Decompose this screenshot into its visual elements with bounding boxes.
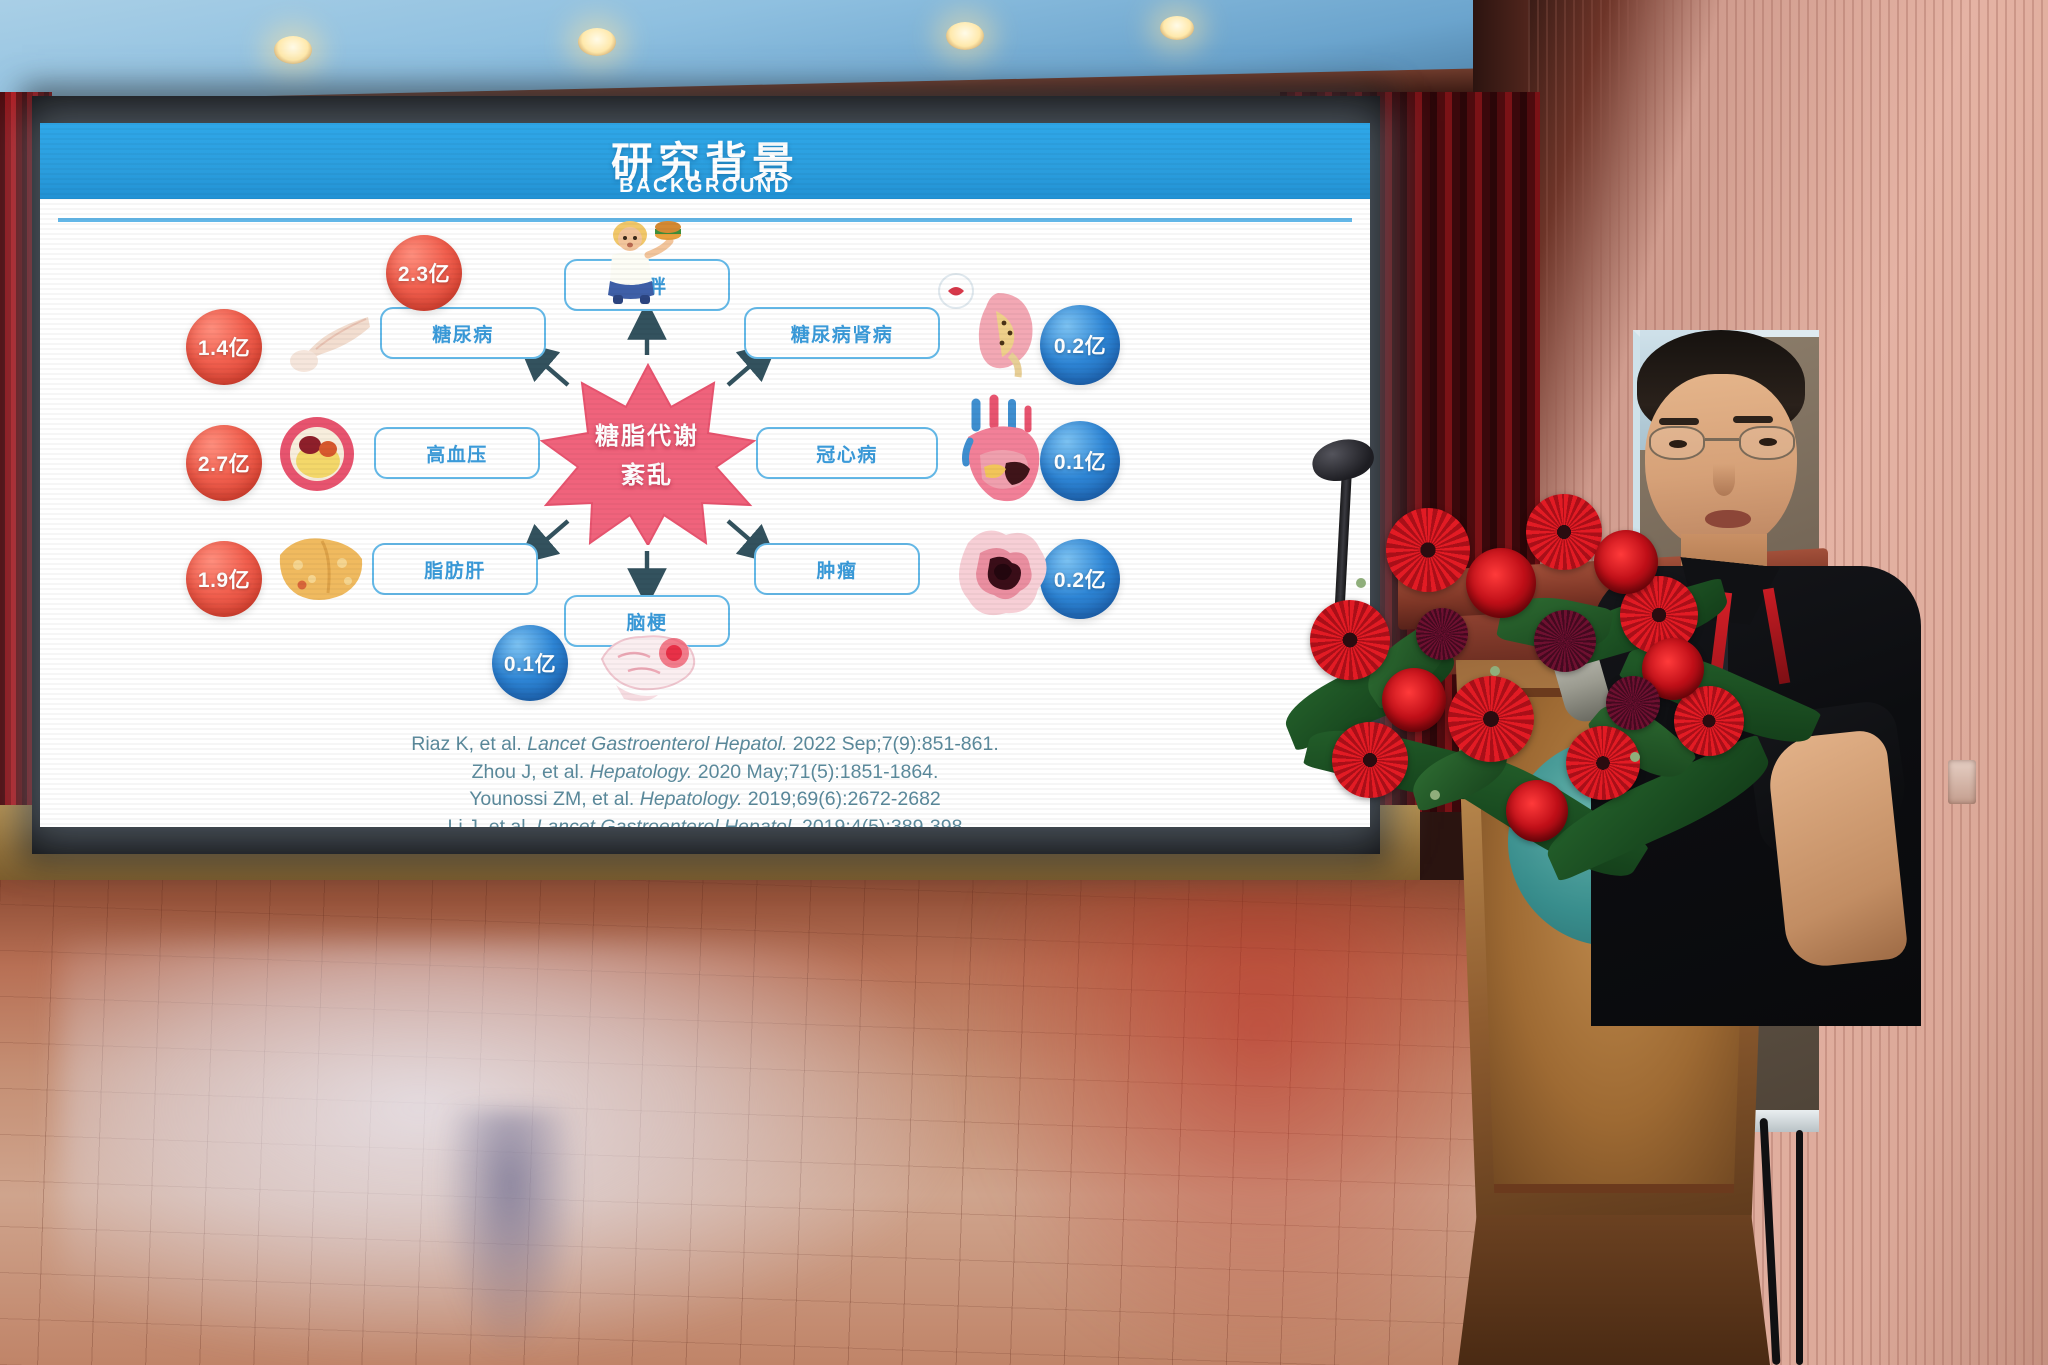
dark-chrysanthemum	[1534, 610, 1596, 672]
gerbera-flower	[1566, 726, 1640, 800]
reference-citation: 2020 May;71(5):1851-1864.	[692, 761, 938, 783]
dark-chrysanthemum	[1416, 608, 1468, 660]
bubble-diabetes-count: 1.4亿	[186, 309, 262, 385]
speaker-eye	[1669, 440, 1687, 448]
eucalyptus-sprig	[1356, 578, 1366, 588]
downlight-icon	[274, 36, 312, 64]
podium-base	[1458, 1215, 1770, 1365]
rose-flower	[1594, 530, 1658, 594]
star-line-1: 糖脂代谢	[595, 416, 699, 451]
speaker-eye	[1759, 438, 1777, 446]
reference-citation: 2019;4(5):389-398	[797, 816, 963, 827]
reference-item: Younossi ZM, et al. Hepatology. 2019;69(…	[40, 786, 1370, 814]
pancreas-icon	[282, 309, 376, 380]
brain-icon	[588, 619, 708, 716]
slide-title-english: BACKGROUND	[40, 175, 1370, 198]
fatty-liver-icon	[272, 529, 368, 612]
bubble-stroke-count: 0.1亿	[492, 625, 568, 701]
downlight-icon	[578, 28, 616, 56]
reference-citation: 2022 Sep;7(9):851-861.	[787, 733, 998, 755]
wall-outlet-icon	[1948, 760, 1976, 804]
reference-journal: Lancet Gastroenterol Hepatol.	[527, 733, 787, 755]
node-hypertension[interactable]: 高血压	[374, 427, 540, 479]
artery-plaque-icon	[278, 415, 356, 498]
node-diabetic-kidney-disease[interactable]: 糖尿病肾病	[744, 307, 940, 359]
bubble-dkd-count: 0.2亿	[1040, 305, 1120, 385]
reference-journal: Hepatology.	[640, 788, 743, 810]
tumor-tissue-icon	[946, 519, 1058, 632]
bubble-fatty-liver-count: 1.9亿	[186, 541, 262, 617]
speaker-eyebrow	[1659, 418, 1699, 425]
downlight-icon	[946, 22, 984, 50]
reference-authors: Li J, et al.	[448, 816, 537, 827]
projection-screen: 研究背景 BACKGROUND	[40, 123, 1370, 827]
reference-journal: Lancet Gastroenterol Hepatol.	[536, 816, 796, 827]
dark-chrysanthemum	[1606, 676, 1660, 730]
central-star-label: 糖脂代谢 紊乱	[538, 363, 756, 543]
eucalyptus-sprig	[1490, 666, 1500, 676]
reference-citation: 2019;69(6):2672-2682	[742, 788, 940, 810]
rose-flower	[1466, 548, 1536, 618]
node-diabetes[interactable]: 糖尿病	[380, 307, 546, 359]
downlight-icon	[1160, 16, 1194, 40]
heart-icon	[950, 393, 1054, 518]
speaker-eyebrow	[1733, 416, 1773, 423]
reference-authors: Younossi ZM, et al.	[469, 788, 640, 810]
central-star-shape: 糖脂代谢 紊乱	[538, 363, 756, 543]
node-tumor[interactable]: 肿瘤	[754, 543, 920, 595]
gerbera-flower	[1526, 494, 1602, 570]
flower-bouquet	[1290, 490, 1810, 920]
glasses-bridge	[1705, 438, 1739, 441]
reference-item: Zhou J, et al. Hepatology. 2020 May;71(5…	[40, 759, 1370, 787]
bubble-hypertension-count: 2.7亿	[186, 425, 262, 501]
rose-flower	[1382, 668, 1446, 732]
reference-authors: Zhou J, et al.	[472, 761, 590, 783]
eucalyptus-sprig	[1630, 752, 1640, 762]
reference-journal: Hepatology.	[590, 761, 693, 783]
gerbera-flower	[1386, 508, 1470, 592]
star-line-2: 紊乱	[621, 455, 673, 490]
gerbera-flower	[1448, 676, 1534, 762]
kidney-icon	[936, 271, 1046, 388]
reference-authors: Riaz K, et al.	[411, 733, 527, 755]
floor-reflection-figure	[440, 1110, 580, 1360]
conference-hall-scene: 研究背景 BACKGROUND	[0, 0, 2048, 1365]
eucalyptus-sprig	[1430, 790, 1440, 800]
rose-flower	[1506, 780, 1568, 842]
reference-list: Riaz K, et al. Lancet Gastroenterol Hepa…	[40, 731, 1370, 827]
metabolic-disorder-diagram: 糖脂代谢 紊乱 肥胖 糖尿病 糖尿病肾病 高血压 冠心病 脂肪肝 肿瘤 脑梗 2…	[40, 213, 1370, 733]
obese-person-icon	[596, 219, 682, 312]
gerbera-flower	[1310, 600, 1390, 680]
bubble-obesity-count: 2.3亿	[386, 235, 462, 311]
slide-header-banner: 研究背景 BACKGROUND	[40, 123, 1370, 206]
node-coronary-heart-disease[interactable]: 冠心病	[756, 427, 938, 479]
reference-item: Li J, et al. Lancet Gastroenterol Hepato…	[40, 814, 1370, 827]
reference-item: Riaz K, et al. Lancet Gastroenterol Hepa…	[40, 731, 1370, 759]
node-fatty-liver[interactable]: 脂肪肝	[372, 543, 538, 595]
gerbera-flower	[1332, 722, 1408, 798]
hall-floor	[0, 880, 1620, 1365]
